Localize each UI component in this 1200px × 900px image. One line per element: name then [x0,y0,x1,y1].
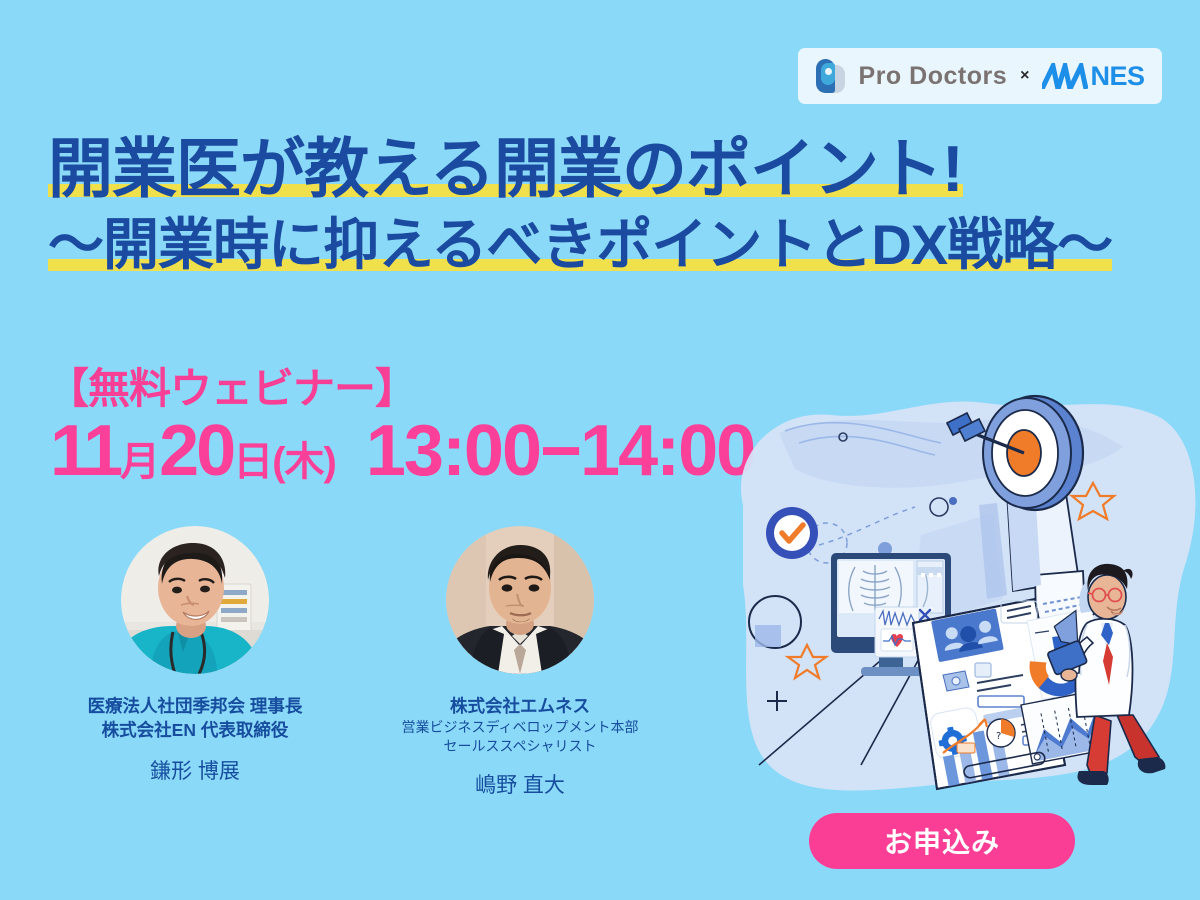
speaker-photo-businessman-suit [446,526,594,674]
pie-chart-icon: ? [987,719,1015,747]
pro-doctors-p-mark-icon [816,59,846,93]
speaker-2-name: 嶋野 直大 [370,773,670,798]
speaker-2-dept-line-2: セールススペシャリスト [370,737,670,756]
target-dartboard-icon [983,396,1083,510]
speaker-card-1: 医療法人社団季邦会 理事長 株式会社EN 代表取締役 鎌形 博展 [45,526,345,784]
free-webinar-label: 【無料ウェビナー】 [47,355,416,416]
speaker-1-name: 鎌形 博展 [45,759,345,784]
event-time: 13:00−14:00 [366,418,754,484]
apply-button[interactable]: お申込み [809,813,1075,869]
event-datetime: 11 月 20 日(木) 13:00−14:00 [50,418,754,484]
event-month: 11 [50,418,120,484]
speaker-1-org-line-1: 医療法人社団季邦会 理事長 [45,694,345,718]
page-title-text: 開業医が教える開業のポイント! [48,132,963,205]
partner-logo-panel: Pro Doctors × NES [798,48,1162,104]
pro-doctors-wordmark: Pro Doctors [859,62,1008,91]
event-day-unit: 日(木) [233,444,336,484]
speaker-2-org: 株式会社エムネス 営業ビジネスディベロップメント本部 セールススペシャリスト [370,694,670,756]
speaker-2-org-line-1: 株式会社エムネス [370,694,670,718]
speaker-card-2: 株式会社エムネス 営業ビジネスディベロップメント本部 セールススペシャリスト 嶋… [370,526,670,798]
speaker-1-org-line-2: 株式会社EN 代表取締役 [45,718,345,742]
page-title: 開業医が教える開業のポイント! [48,136,963,201]
speaker-1-org: 医療法人社団季邦会 理事長 株式会社EN 代表取締役 [45,694,345,742]
logo-separator-x: × [1020,67,1029,85]
mnes-nes-text: NES [1090,61,1144,92]
mnes-m-glyph-icon [1042,63,1088,89]
event-day: 20 [159,418,233,484]
speaker-photo-doctor-scrubs [121,526,269,674]
mnes-wordmark: NES [1042,61,1144,92]
page-subtitle: 〜開業時に抑えるべきポイントとDX戦略〜 [48,217,1112,273]
money-icon [943,671,969,691]
svg-text:?: ? [996,731,1001,742]
event-month-unit: 月 [120,444,159,484]
speaker-2-dept-line-1: 営業ビジネスディベロップメント本部 [370,718,670,737]
medical-dx-hero-illustration: ? [735,385,1200,810]
headline-block: 開業医が教える開業のポイント! 〜開業時に抑えるべきポイントとDX戦略〜 [48,136,1200,273]
check-badge-icon [766,507,818,559]
page-subtitle-text: 〜開業時に抑えるべきポイントとDX戦略〜 [48,213,1112,276]
